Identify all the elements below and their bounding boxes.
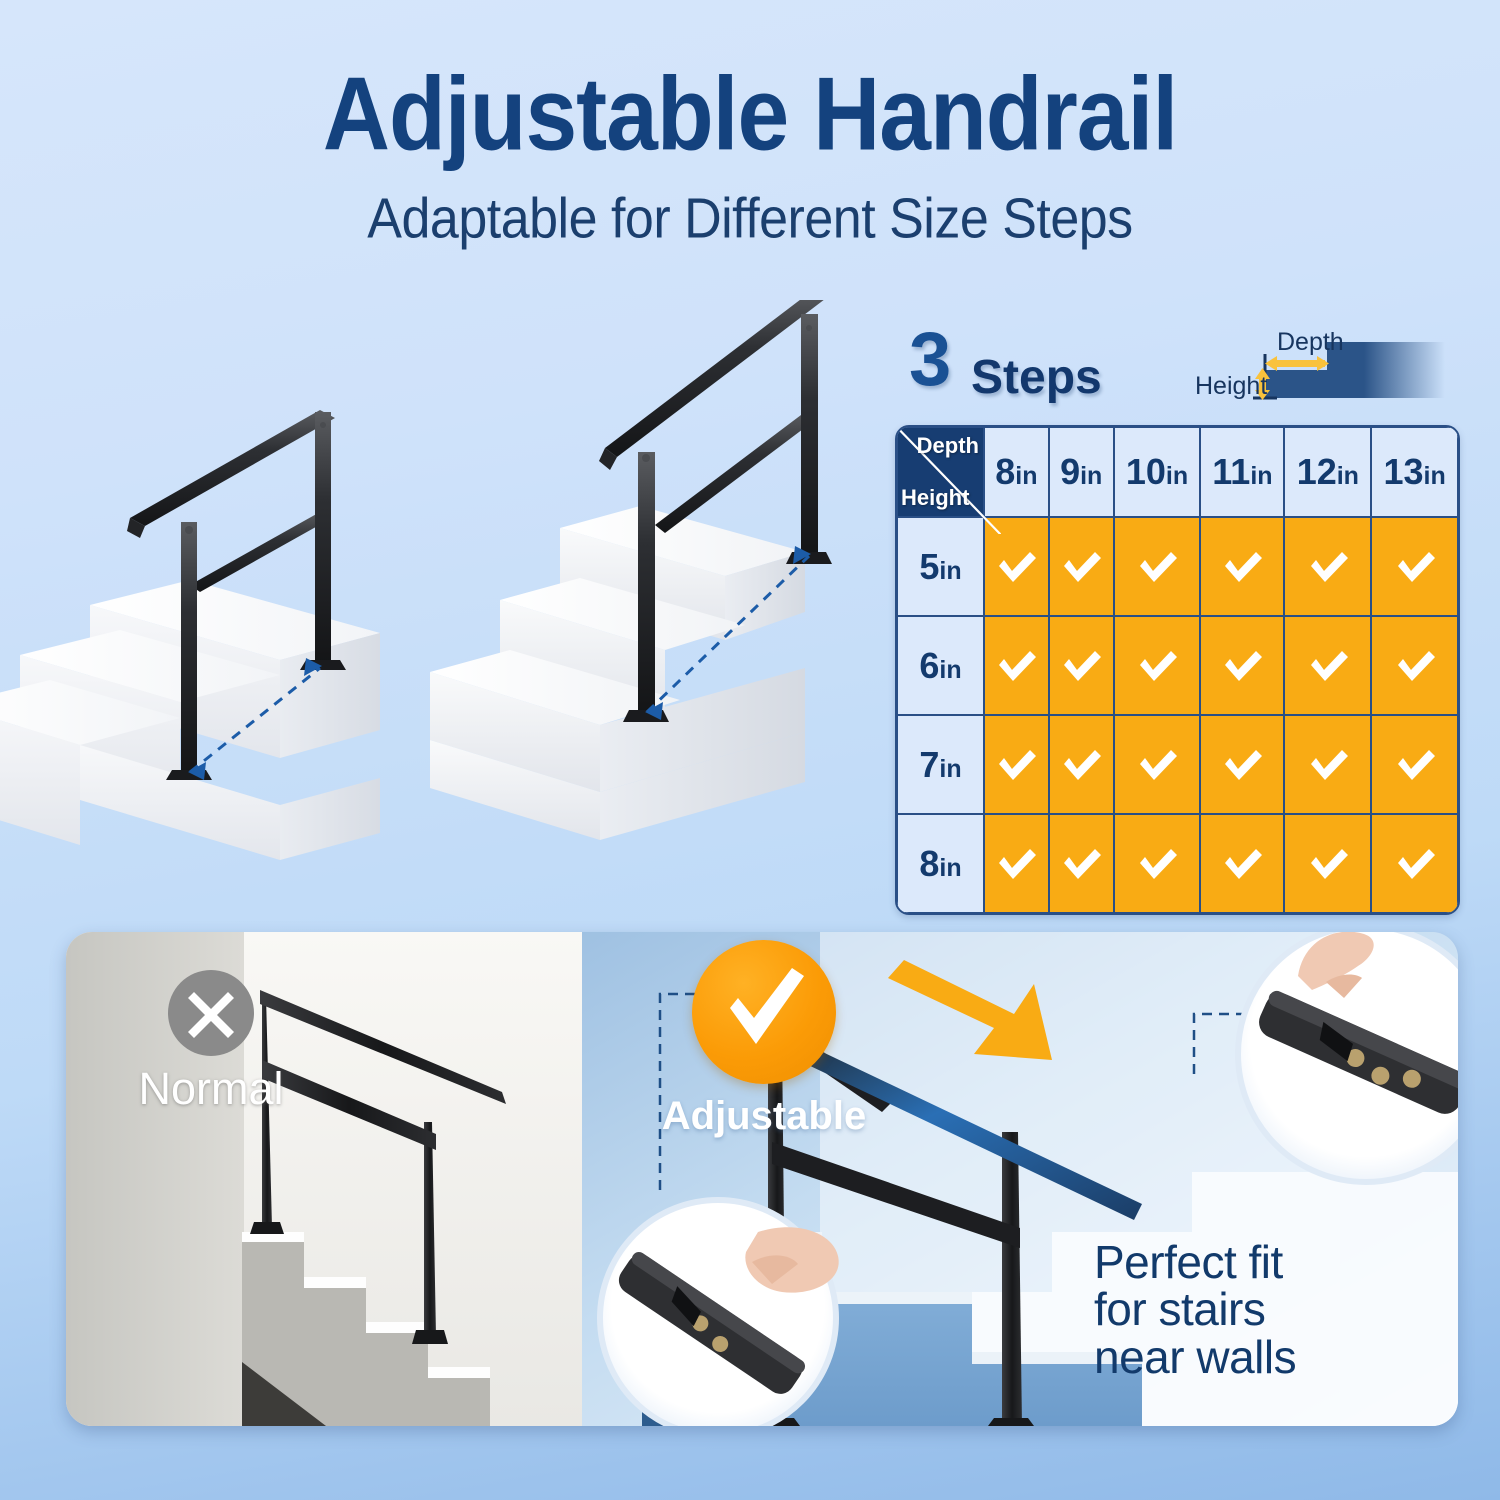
x-mark-icon: [168, 970, 254, 1056]
check-icon: [1058, 742, 1104, 788]
table-row: 8in: [897, 814, 1458, 913]
comparison-section: Normal: [66, 932, 1458, 1426]
check-icon: [1058, 544, 1104, 590]
page-subtitle: Adaptable for Different Size Steps: [0, 191, 1500, 247]
check-icon: [1392, 841, 1438, 887]
table-row: 7in: [897, 715, 1458, 814]
adjustable-label: Adjustable: [634, 1096, 894, 1136]
cell-7in-12in: [1284, 715, 1371, 814]
cell-6in-8in: [984, 616, 1049, 715]
column-header-9in: 9in: [1049, 427, 1114, 517]
cell-6in-13in: [1371, 616, 1458, 715]
check-icon: [1134, 544, 1180, 590]
cell-8in-11in: [1200, 814, 1284, 913]
cell-8in-12in: [1284, 814, 1371, 913]
cell-5in-9in: [1049, 517, 1114, 616]
cell-7in-13in: [1371, 715, 1458, 814]
check-icon: [993, 841, 1039, 887]
check-icon: [1392, 742, 1438, 788]
legend-depth-label: Depth: [1277, 328, 1344, 356]
table-body: 5in6in7in8in: [897, 517, 1458, 913]
stair-render-left: [0, 300, 430, 880]
caption-line-2: for stairs: [1094, 1286, 1424, 1334]
fit-compatibility-table: Depth Height 8in 9in 10in 11in 12in 13in…: [895, 425, 1460, 915]
check-icon: [1134, 643, 1180, 689]
cell-6in-12in: [1284, 616, 1371, 715]
column-header-13in: 13in: [1371, 427, 1458, 517]
cell-8in-9in: [1049, 814, 1114, 913]
check-icon: [1305, 544, 1351, 590]
check-icon: [993, 544, 1039, 590]
normal-badge: Normal: [126, 970, 296, 1111]
check-icon: [1219, 742, 1265, 788]
check-icon: [1058, 841, 1104, 887]
header-block: Adjustable Handrail Adaptable for Differ…: [0, 62, 1500, 243]
normal-label: Normal: [126, 1066, 296, 1111]
row-header-6in: 6in: [897, 616, 984, 715]
depth-height-legend: Depth Height: [1195, 324, 1460, 410]
perfect-fit-caption: Perfect fit for stairs near walls: [1094, 1239, 1424, 1382]
steps-header-block: 3 Steps: [895, 330, 1460, 410]
adjustable-badge: Adjustable: [634, 940, 894, 1136]
table-row: 6in: [897, 616, 1458, 715]
depth-arrow: [1265, 356, 1329, 371]
check-icon: [1305, 742, 1351, 788]
table-corner-cell: Depth Height: [897, 427, 984, 517]
corner-height-label: Height: [901, 485, 969, 511]
check-mark-icon: [692, 940, 836, 1084]
cell-5in-13in: [1371, 517, 1458, 616]
check-icon: [1392, 544, 1438, 590]
check-icon: [1305, 841, 1351, 887]
check-icon: [993, 742, 1039, 788]
check-icon: [1134, 841, 1180, 887]
check-icon: [993, 643, 1039, 689]
detail-inset-bottom: [600, 1200, 839, 1426]
check-icon: [1058, 643, 1104, 689]
cell-6in-9in: [1049, 616, 1114, 715]
page-title: Adjustable Handrail: [0, 62, 1500, 166]
column-header-10in: 10in: [1114, 427, 1201, 517]
adjustable-panel: Adjustable Perfect fit for stairs near w…: [582, 932, 1458, 1426]
row-header-8in: 8in: [897, 814, 984, 913]
check-icon: [1219, 643, 1265, 689]
check-icon: [1392, 643, 1438, 689]
cell-7in-9in: [1049, 715, 1114, 814]
column-header-12in: 12in: [1284, 427, 1371, 517]
steps-count: 3: [909, 322, 951, 398]
cell-6in-10in: [1114, 616, 1201, 715]
cell-5in-10in: [1114, 517, 1201, 616]
cell-8in-10in: [1114, 814, 1201, 913]
cell-5in-11in: [1200, 517, 1284, 616]
caption-line-3: near walls: [1094, 1334, 1424, 1382]
table-header-row: Depth Height 8in 9in 10in 11in 12in 13in: [897, 427, 1458, 517]
corner-depth-label: Depth: [917, 433, 979, 459]
column-header-11in: 11in: [1200, 427, 1284, 517]
check-icon: [1219, 544, 1265, 590]
steps-word: Steps: [971, 354, 1102, 402]
check-icon: [1305, 643, 1351, 689]
caption-line-1: Perfect fit: [1094, 1239, 1424, 1287]
normal-panel: Normal: [66, 932, 582, 1426]
check-icon: [1219, 841, 1265, 887]
row-header-7in: 7in: [897, 715, 984, 814]
stair-render-right: [405, 300, 875, 900]
cell-7in-11in: [1200, 715, 1284, 814]
legend-height-label: Height: [1195, 372, 1267, 400]
cell-8in-8in: [984, 814, 1049, 913]
cell-5in-12in: [1284, 517, 1371, 616]
cell-6in-11in: [1200, 616, 1284, 715]
cell-7in-8in: [984, 715, 1049, 814]
cell-7in-10in: [1114, 715, 1201, 814]
cell-8in-13in: [1371, 814, 1458, 913]
check-icon: [1134, 742, 1180, 788]
